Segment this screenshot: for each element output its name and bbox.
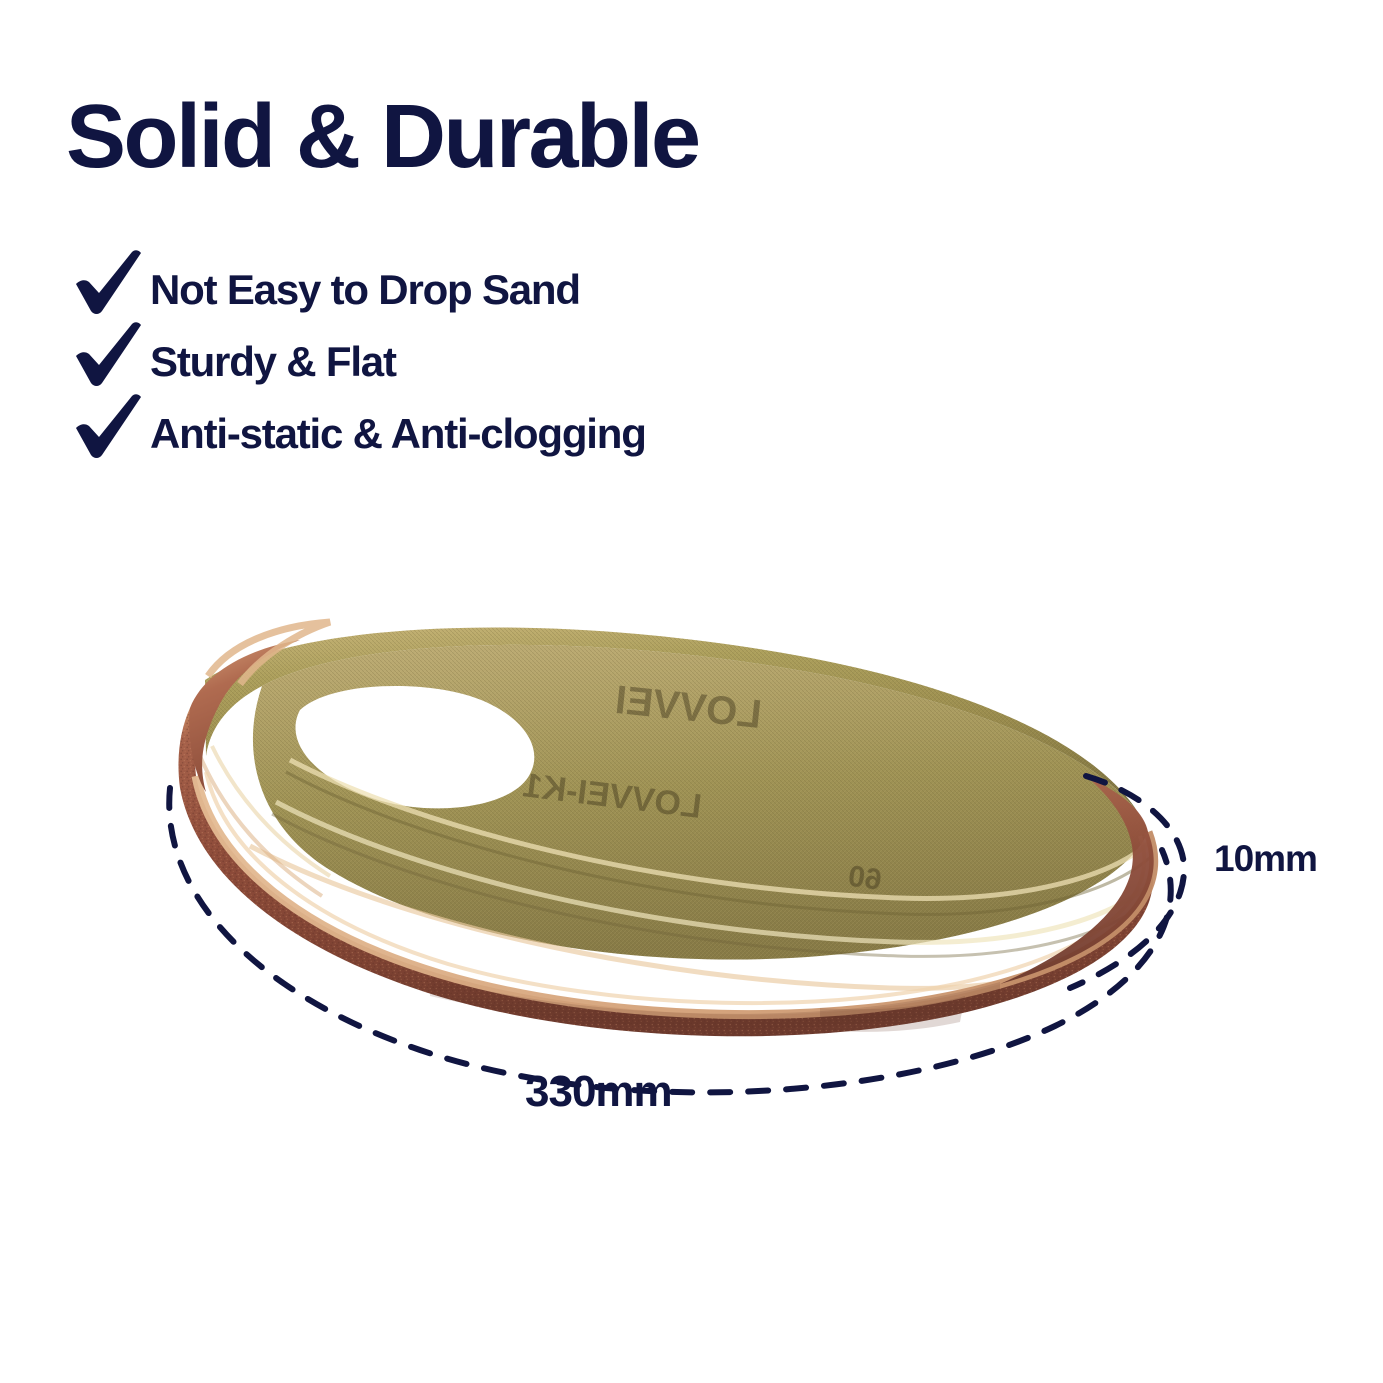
width-dimension-label: 10mm [1214, 840, 1317, 877]
check-icon [72, 400, 146, 468]
list-item: Not Easy to Drop Sand [72, 256, 932, 324]
list-item: Sturdy & Flat [72, 328, 932, 396]
page-title: Solid & Durable [66, 92, 699, 182]
list-item-label: Not Easy to Drop Sand [146, 269, 580, 311]
svg-text:60: 60 [846, 860, 884, 897]
length-dimension-label: 330mm [525, 1070, 672, 1114]
list-item-label: Anti-static & Anti-clogging [146, 413, 646, 455]
feature-list: Not Easy to Drop Sand Sturdy & Flat Anti… [72, 256, 932, 472]
check-icon [72, 328, 146, 396]
list-item: Anti-static & Anti-clogging [72, 400, 932, 468]
list-item-label: Sturdy & Flat [146, 341, 396, 383]
check-icon [72, 256, 146, 324]
product-image: LOVVEI LOVVEI-K1 60 10mm 330mm [0, 560, 1383, 1160]
belt-body: LOVVEI LOVVEI-K1 60 [178, 622, 1156, 1036]
sanding-belt-illustration: LOVVEI LOVVEI-K1 60 [0, 560, 1383, 1160]
product-infographic: Solid & Durable Not Easy to Drop Sand St… [0, 0, 1383, 1383]
